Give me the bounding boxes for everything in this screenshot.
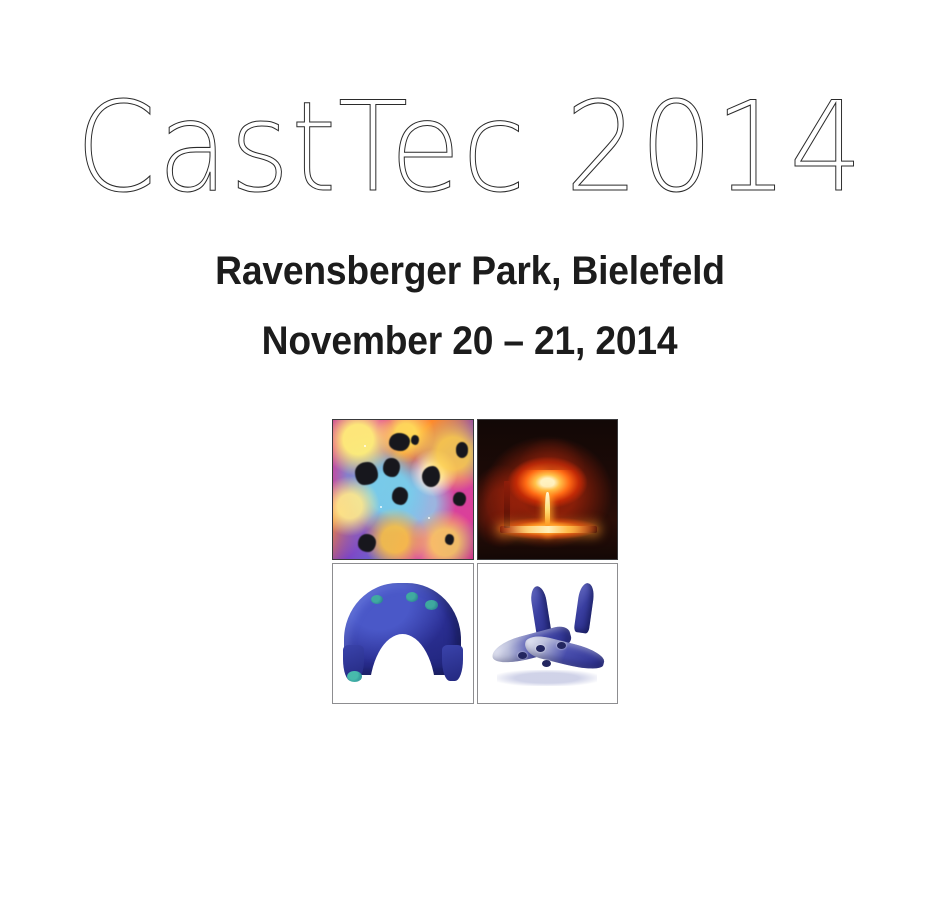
page-title: CastTec 2014 (76, 86, 864, 210)
melt-bar (500, 526, 598, 533)
inclusion-blob (358, 534, 376, 552)
date-text: November 20 – 21, 2014 (262, 319, 678, 364)
cast-fork-prong (573, 583, 595, 635)
blue-cast-part-render (333, 564, 473, 703)
cast-surface-node (425, 600, 438, 610)
date-line: November 20 – 21, 2014 (0, 319, 940, 364)
inclusion-blob (355, 462, 377, 486)
cast-bolt-hole (518, 652, 527, 659)
furnace-post (504, 481, 510, 528)
cast-bolt-hole (536, 645, 545, 652)
molten-metal-pour-image (478, 420, 618, 559)
furnace-hood (519, 439, 583, 470)
speck (364, 445, 366, 447)
thermal-microstructure-image (333, 420, 473, 559)
inclusion-blob (392, 487, 409, 505)
venue-line: Ravensberger Park, Bielefeld (0, 249, 940, 294)
inclusion-blob (453, 492, 466, 506)
grid-cell-top-left (332, 419, 474, 560)
grid-cell-bottom-left (332, 563, 474, 704)
inclusion-blob (389, 433, 410, 451)
inclusion-blob (445, 534, 455, 545)
speck (428, 517, 430, 519)
venue-text: Ravensberger Park, Bielefeld (215, 249, 725, 294)
cast-arch-leg (442, 645, 463, 681)
grid-cell-top-right (477, 419, 619, 560)
inclusion-blob (383, 458, 400, 477)
cast-bolt-hole (542, 660, 551, 667)
blue-forked-cast-part-render (478, 564, 618, 703)
cast-bolt-hole (557, 642, 566, 649)
inclusion-blob (411, 435, 419, 445)
poster-canvas: CastTec 2014 Ravensberger Park, Bielefel… (0, 0, 940, 921)
speck (380, 506, 382, 508)
title-block: CastTec 2014 (0, 86, 940, 210)
grid-cell-bottom-right (477, 563, 619, 704)
cast-part-shadow (497, 670, 597, 687)
cast-surface-node (347, 671, 362, 682)
inclusion-blob (456, 442, 469, 457)
image-grid (332, 419, 618, 704)
inclusion-blob (422, 466, 440, 487)
cast-surface-node (406, 592, 419, 602)
